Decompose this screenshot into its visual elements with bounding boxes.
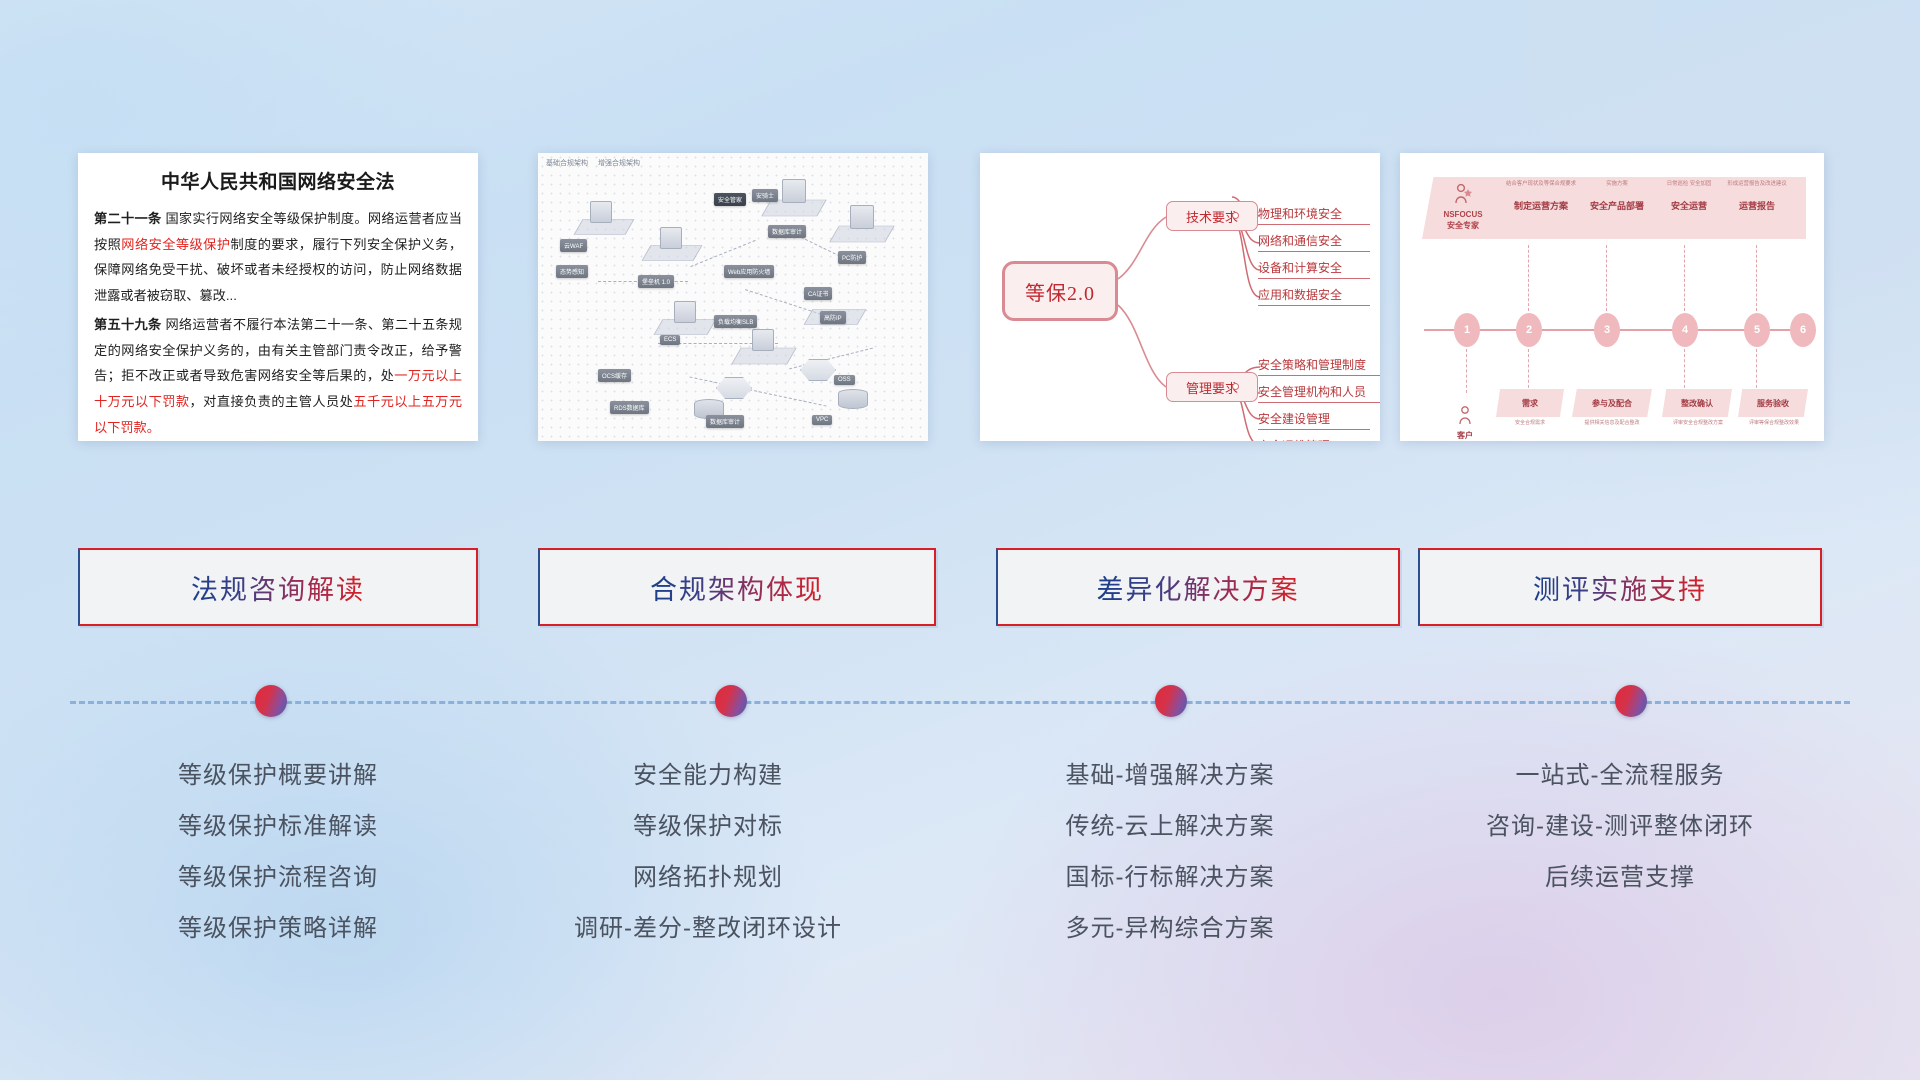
heading-label: 合规架构体现 — [650, 568, 824, 607]
timeline — [70, 700, 1850, 704]
detail-item: 网络拓扑规划 — [478, 852, 938, 903]
detail-item: 等级保护标准解读 — [78, 801, 478, 852]
detail-column-3: 基础-增强解决方案 传统-云上解决方案 国标-行标解决方案 多元-异构综合方案 — [960, 750, 1380, 954]
detail-column-1: 等级保护概要讲解 等级保护标准解读 等级保护流程咨询 等级保护策略详解 — [78, 750, 478, 954]
heading-box-regulation-consulting[interactable]: 法规咨询解读 — [78, 548, 478, 626]
detail-item: 一站式-全流程服务 — [1400, 750, 1840, 801]
heading-label: 法规咨询解读 — [191, 568, 365, 607]
detail-item: 后续运营支撑 — [1400, 852, 1840, 903]
timeline-dot-3[interactable] — [1155, 685, 1187, 717]
slide-canvas: 中华人民共和国网络安全法 第二十一条 国家实行网络安全等级保护制度。网络运营者应… — [0, 0, 1920, 1080]
timeline-dashed-line — [70, 701, 1850, 704]
heading-label: 测评实施支持 — [1533, 568, 1707, 607]
detail-item: 等级保护对标 — [478, 801, 938, 852]
detail-item: 调研-差分-整改闭环设计 — [478, 903, 938, 954]
detail-column-2: 安全能力构建 等级保护对标 网络拓扑规划 调研-差分-整改闭环设计 — [478, 750, 938, 954]
detail-item: 安全能力构建 — [478, 750, 938, 801]
detail-item: 等级保护概要讲解 — [78, 750, 478, 801]
detail-item: 等级保护流程咨询 — [78, 852, 478, 903]
heading-label: 差异化解决方案 — [1097, 568, 1300, 607]
detail-item: 基础-增强解决方案 — [960, 750, 1380, 801]
heading-box-evaluation-support[interactable]: 测评实施支持 — [1418, 548, 1822, 626]
timeline-dot-2[interactable] — [715, 685, 747, 717]
detail-item: 传统-云上解决方案 — [960, 801, 1380, 852]
heading-box-compliance-architecture[interactable]: 合规架构体现 — [538, 548, 936, 626]
heading-box-differentiated-solution[interactable]: 差异化解决方案 — [996, 548, 1400, 626]
detail-item: 国标-行标解决方案 — [960, 852, 1380, 903]
detail-column-4: 一站式-全流程服务 咨询-建设-测评整体闭环 后续运营支撑 — [1400, 750, 1840, 903]
detail-item: 多元-异构综合方案 — [960, 903, 1380, 954]
detail-item: 咨询-建设-测评整体闭环 — [1400, 801, 1840, 852]
timeline-dot-1[interactable] — [255, 685, 287, 717]
detail-item: 等级保护策略详解 — [78, 903, 478, 954]
timeline-dot-4[interactable] — [1615, 685, 1647, 717]
